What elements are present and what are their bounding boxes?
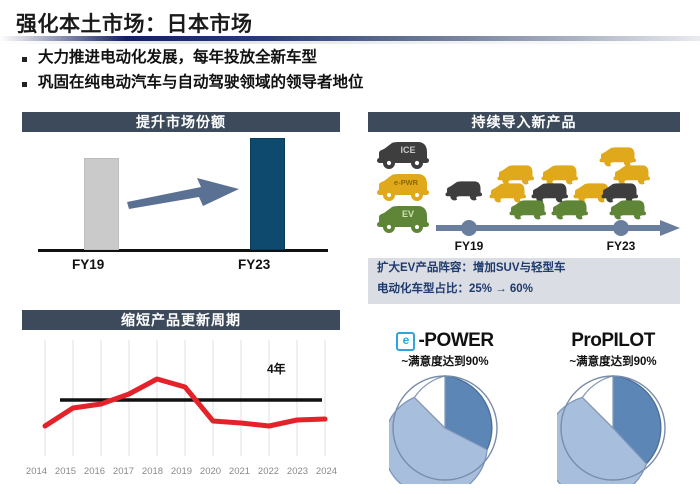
x-tick: 2018 (138, 466, 167, 477)
pie-block-propilot: ProPILOT ~满意度达到90% (528, 330, 698, 489)
growth-arrow-icon (127, 176, 239, 210)
svg-text:e-PWR: e-PWR (394, 178, 419, 187)
list-item: 巩固在纯电动汽车与自动驾驶领域的领导者地位 (18, 73, 678, 93)
bullet-text: 巩固在纯电动汽车与自动驾驶领域的领导者地位 (38, 73, 364, 93)
pie-chart-propilot (557, 372, 669, 484)
bullet-square-icon (22, 82, 27, 87)
x-tick: 2015 (51, 466, 80, 477)
satisfaction-pies: e -POWER ~满意度达到90% ProPILOT ~满意度达到90% (360, 330, 700, 490)
bar-label-fy23: FY23 (238, 257, 270, 272)
bullet-list: 大力推进电动化发展，每年投放全新车型 巩固在纯电动汽车与自动驾驶领域的领导者地位 (18, 48, 678, 98)
new-products-caption: 扩大EV产品阵容：增加SUV与轻型车 电动化车型占比：25% → 60% (368, 258, 680, 304)
legend-car-ev-icon: EV (374, 204, 432, 234)
line-chart-x-axis: 2014 2015 2016 2017 2018 2019 2020 2021 … (22, 466, 352, 477)
line-chart-refresh-cycle: 4年 (22, 338, 340, 464)
legend-car-ice-icon: ICE (374, 140, 432, 170)
svg-text:EV: EV (402, 209, 414, 219)
reference-line-label: 4年 (267, 360, 286, 377)
x-tick: 2022 (254, 466, 283, 477)
timeline-label-fy23: FY23 (607, 239, 636, 253)
x-tick: 2014 (22, 466, 51, 477)
caption-line-2: 电动化车型占比：25% → 60% (368, 279, 680, 300)
x-tick: 2017 (109, 466, 138, 477)
epower-wordmark: -POWER (418, 330, 493, 352)
panel-header-refresh-cycle: 缩短产品更新周期 (22, 310, 340, 330)
page-title: 强化本土市场：日本市场 (16, 8, 253, 38)
svg-text:ICE: ICE (400, 145, 415, 155)
list-item: 大力推进电动化发展，每年投放全新车型 (18, 48, 678, 68)
bullet-text: 大力推进电动化发展，每年投放全新车型 (38, 48, 317, 68)
bar-chart-market-share: FY19 FY23 (22, 138, 340, 268)
new-products-illustration: ICE e-PWR EV (368, 138, 680, 256)
legend-car-epwr-icon: e-PWR (374, 172, 432, 202)
panel-header-new-products: 持续导入新产品 (368, 112, 680, 132)
bar-fy23 (250, 138, 285, 250)
x-tick: 2016 (80, 466, 109, 477)
bar-label-fy19: FY19 (72, 257, 104, 272)
x-tick: 2019 (167, 466, 196, 477)
propilot-subtitle: ~满意度达到90% (528, 353, 698, 369)
x-tick: 2024 (312, 466, 341, 477)
pie-block-epower: e -POWER ~满意度达到90% (360, 330, 530, 489)
propilot-logo: ProPILOT (528, 330, 698, 352)
x-tick: 2020 (196, 466, 225, 477)
chart-gridlines (45, 340, 325, 456)
bullet-square-icon (22, 57, 27, 62)
epower-subtitle: ~满意度达到90% (360, 353, 530, 369)
title-divider-shadow (0, 41, 700, 44)
x-tick: 2023 (283, 466, 312, 477)
epower-e-badge-icon: e (396, 332, 415, 351)
caption-line-1: 扩大EV产品阵容：增加SUV与轻型车 (368, 258, 680, 279)
propilot-wordmark: ProPILOT (571, 330, 655, 352)
x-tick: 2021 (225, 466, 254, 477)
panel-header-market-share: 提升市场份额 (22, 112, 340, 132)
product-timeline-illustration: FY19 FY23 (436, 138, 680, 256)
epower-logo: e -POWER (360, 330, 530, 352)
pie-chart-epower (389, 372, 501, 484)
timeline-label-fy19: FY19 (455, 239, 484, 253)
bar-fy19 (84, 158, 119, 250)
